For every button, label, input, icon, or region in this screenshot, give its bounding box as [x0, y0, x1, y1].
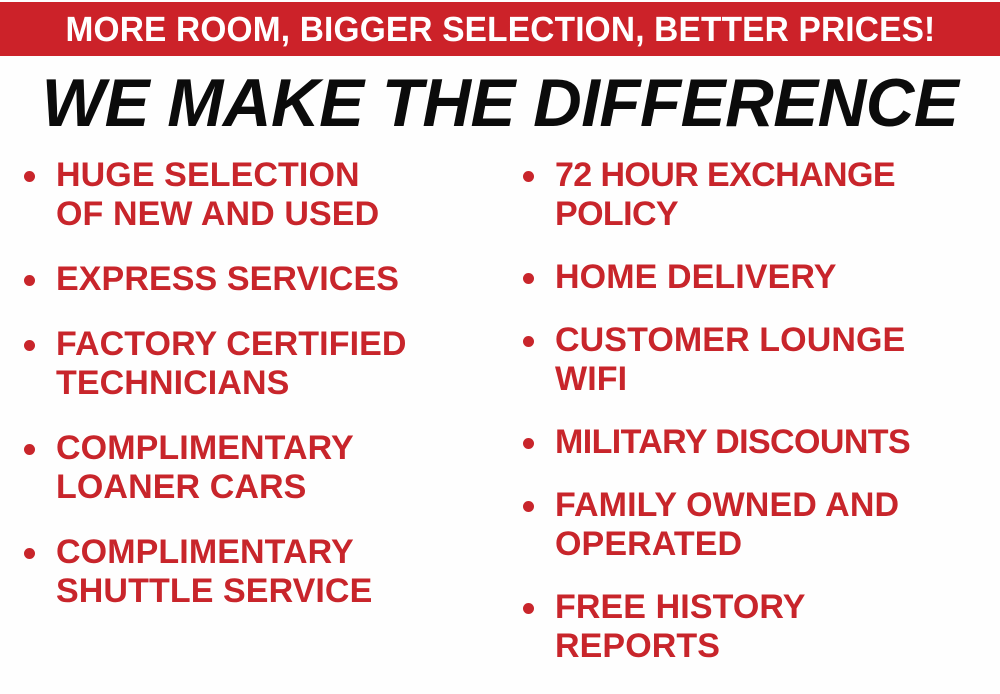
- list-item: COMPLIMENTARY SHUTTLE SERVICE: [14, 533, 494, 611]
- list-item-label: EXPRESS SERVICES: [56, 260, 494, 299]
- bullet-dot-icon: [523, 438, 534, 449]
- list-item-label: HOME DELIVERY: [555, 258, 1000, 297]
- list-item-label: CUSTOMER LOUNGE WIFI: [555, 321, 1000, 399]
- list-item-label: MILITARY DISCOUNTS: [555, 423, 1000, 462]
- features-column-right: 72 HOUR EXCHANGE POLICY HOME DELIVERY CU…: [513, 156, 1000, 690]
- list-item: COMPLIMENTARY LOANER CARS: [14, 429, 494, 507]
- list-item: CUSTOMER LOUNGE WIFI: [513, 321, 1000, 399]
- bullet-dot-icon: [24, 444, 35, 455]
- bullet-dot-icon: [523, 273, 534, 284]
- bullet-dot-icon: [24, 340, 35, 351]
- list-item: FAMILY OWNED AND OPERATED: [513, 486, 1000, 564]
- features-columns: HUGE SELECTION OF NEW AND USED EXPRESS S…: [0, 156, 1000, 694]
- banner-headline-text: MORE ROOM, BIGGER SELECTION, BETTER PRIC…: [65, 12, 935, 47]
- bullet-dot-icon: [523, 501, 534, 512]
- list-item: FACTORY CERTIFIED TECHNICIANS: [14, 325, 494, 403]
- bullet-dot-icon: [523, 171, 534, 182]
- features-column-left: HUGE SELECTION OF NEW AND USED EXPRESS S…: [14, 156, 494, 637]
- bullet-dot-icon: [523, 336, 534, 347]
- headline-container: WE MAKE THE DIFFERENCE: [0, 68, 1000, 138]
- list-item-label: HUGE SELECTION OF NEW AND USED: [56, 156, 494, 234]
- promo-poster: MORE ROOM, BIGGER SELECTION, BETTER PRIC…: [0, 0, 1000, 694]
- list-item: HOME DELIVERY: [513, 258, 1000, 297]
- list-item-label: COMPLIMENTARY LOANER CARS: [56, 429, 494, 507]
- list-item: EXPRESS SERVICES: [14, 260, 494, 299]
- bullet-dot-icon: [24, 275, 35, 286]
- list-item-label: COMPLIMENTARY SHUTTLE SERVICE: [56, 533, 494, 611]
- list-item: MILITARY DISCOUNTS: [513, 423, 1000, 462]
- list-item: 72 HOUR EXCHANGE POLICY: [513, 156, 1000, 234]
- bullet-dot-icon: [523, 603, 534, 614]
- page-title: WE MAKE THE DIFFERENCE: [42, 68, 959, 138]
- list-item-label: FAMILY OWNED AND OPERATED: [555, 486, 1000, 564]
- list-item-label: 72 HOUR EXCHANGE POLICY: [555, 156, 1000, 234]
- list-item: FREE HISTORY REPORTS: [513, 588, 1000, 666]
- bullet-dot-icon: [24, 548, 35, 559]
- list-item-label: FREE HISTORY REPORTS: [555, 588, 1000, 666]
- bullet-dot-icon: [24, 171, 35, 182]
- list-item: HUGE SELECTION OF NEW AND USED: [14, 156, 494, 234]
- top-banner: MORE ROOM, BIGGER SELECTION, BETTER PRIC…: [0, 2, 1000, 56]
- list-item-label: FACTORY CERTIFIED TECHNICIANS: [56, 325, 494, 403]
